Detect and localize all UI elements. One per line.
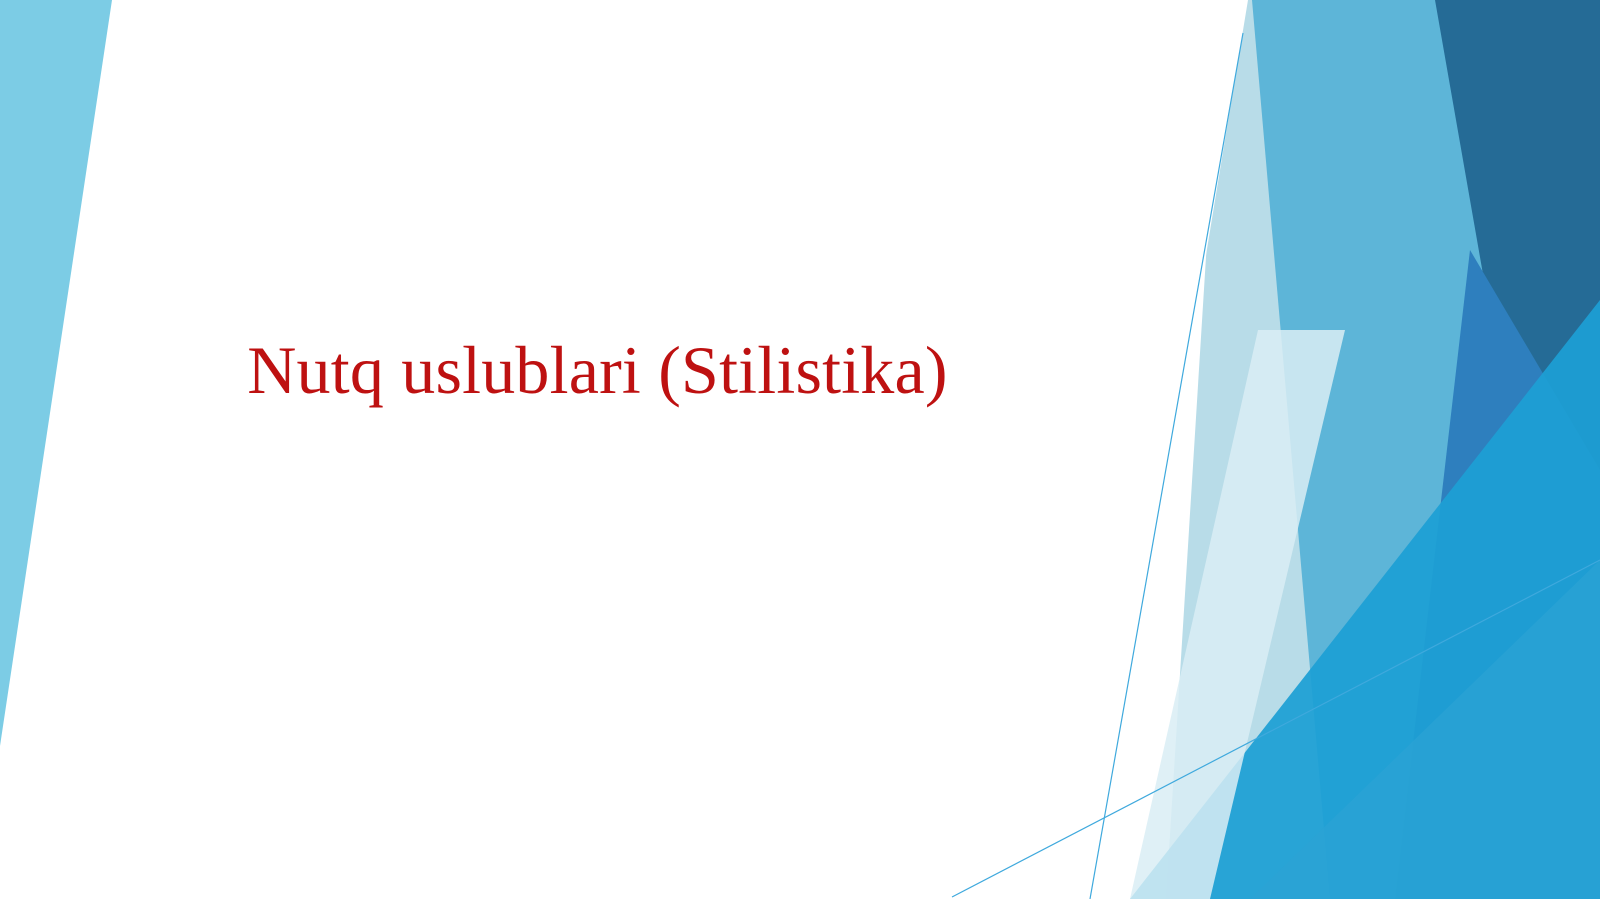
- right-mid-blue-band-shape: [1252, 0, 1600, 899]
- white-carve-wedge-shape: [1010, 0, 1248, 899]
- title-placeholder[interactable]: Nutq uslublari (Stilistika): [0, 300, 1195, 440]
- bottom-right-bright-overlay-shape: [1250, 560, 1600, 899]
- right-pale-band-shape: [1166, 0, 1600, 899]
- presentation-slide: Nutq uslublari (Stilistika): [0, 0, 1600, 899]
- bottom-right-cyan-triangle-shape: [1130, 300, 1600, 899]
- slide-background-decoration: [0, 0, 1600, 899]
- right-steel-blue-wedge-shape: [1395, 250, 1600, 899]
- thin-diagonal-line-shallow-shape: [952, 560, 1600, 897]
- thin-diagonal-line-steep-shape: [1090, 33, 1243, 899]
- right-dark-navy-wedge-shape: [1435, 0, 1600, 640]
- slide-title: Nutq uslublari (Stilistika): [247, 333, 947, 408]
